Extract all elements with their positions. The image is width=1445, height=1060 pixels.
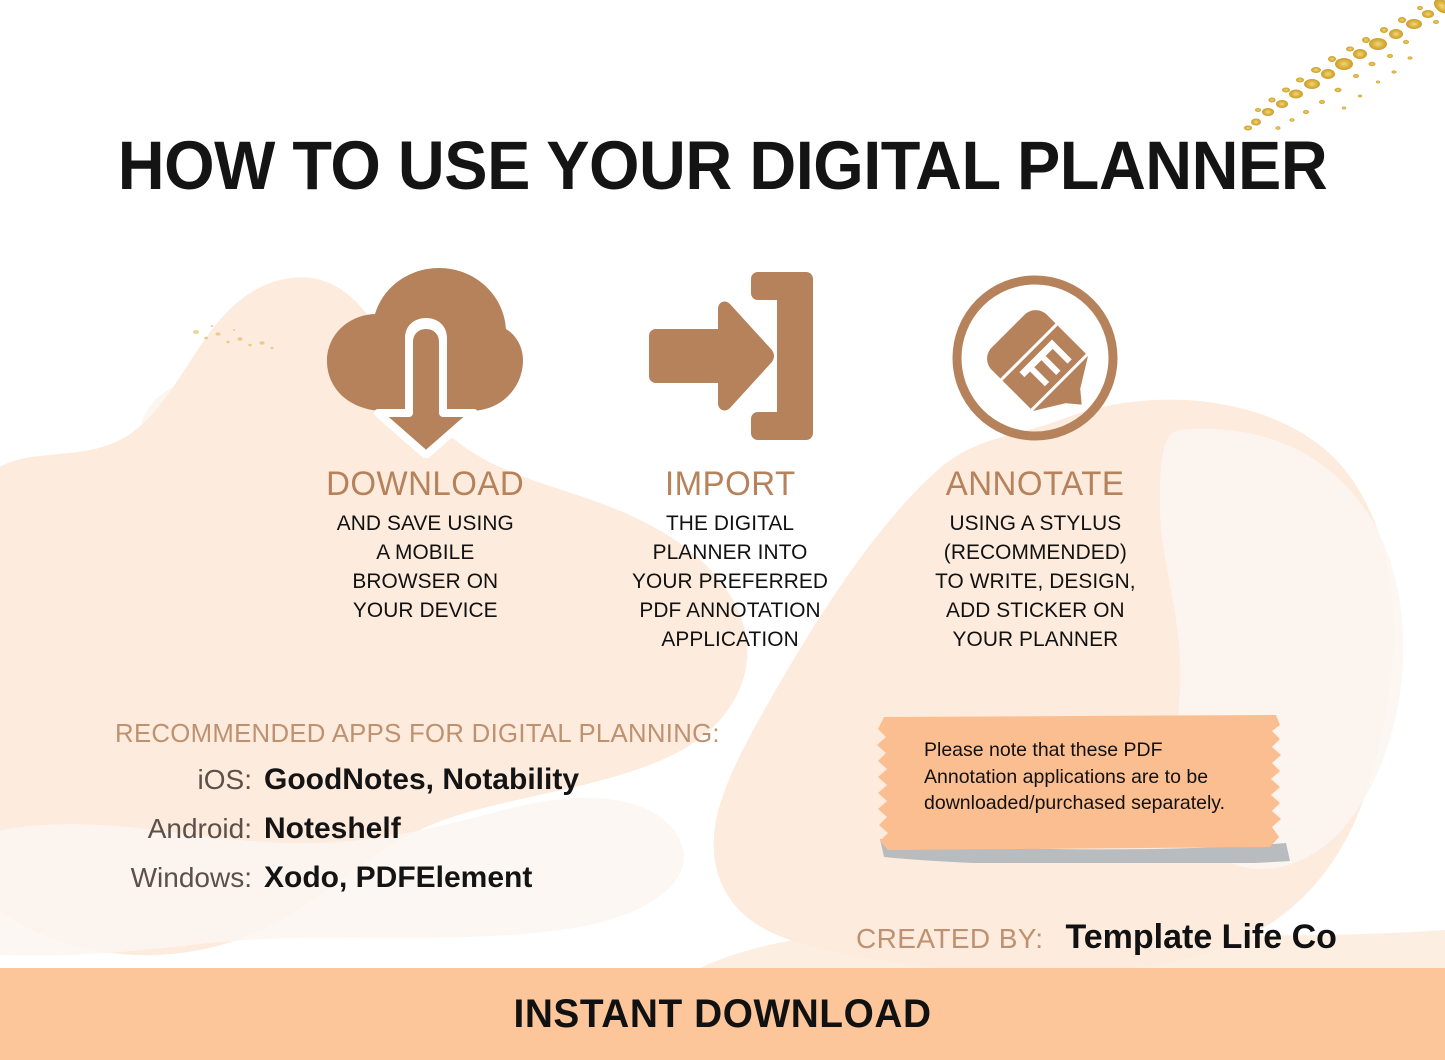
app-row: Android: Noteshelf [112, 812, 752, 861]
step-desc-line: AND SAVE USING [336, 509, 513, 538]
footer-bar: INSTANT DOWNLOAD [0, 968, 1445, 1060]
step-title-annotate: ANNOTATE [946, 465, 1125, 504]
step-download: DOWNLOAD AND SAVE USING A MOBILE BROWSER… [300, 258, 550, 625]
app-os-label: iOS: [112, 764, 264, 796]
recommended-apps-heading: RECOMMENDED APPS FOR DIGITAL PLANNING: [115, 718, 720, 749]
step-desc-download: AND SAVE USING A MOBILE BROWSER ON YOUR … [336, 509, 513, 625]
step-desc-line: (RECOMMENDED) [935, 538, 1136, 567]
step-desc-line: BROWSER ON [336, 567, 513, 596]
app-names: Xodo, PDFElement [264, 861, 532, 895]
gold-glitter-streak [1244, 0, 1445, 130]
note-text: Please note that these PDF Annotation ap… [924, 737, 1254, 817]
step-desc-line: APPLICATION [632, 625, 828, 654]
import-arrow-icon [643, 258, 818, 463]
app-names: GoodNotes, Notability [264, 763, 579, 797]
created-by: CREATED BY: Template Life Co [856, 918, 1337, 957]
step-title-import: IMPORT [665, 465, 796, 504]
step-desc-line: ADD STICKER ON [935, 596, 1136, 625]
step-desc-line: YOUR DEVICE [336, 596, 513, 625]
step-annotate: ANNOTATE USING A STYLUS (RECOMMENDED) TO… [910, 258, 1160, 654]
app-os-label: Windows: [112, 862, 264, 894]
step-desc-line: PLANNER INTO [632, 538, 828, 567]
step-desc-line: USING A STYLUS [935, 509, 1136, 538]
step-desc-line: A MOBILE [336, 538, 513, 567]
gold-glitter-speck [193, 325, 274, 349]
app-os-label: Android: [112, 813, 264, 845]
step-desc-line: PDF ANNOTATION [632, 596, 828, 625]
steps-row: DOWNLOAD AND SAVE USING A MOBILE BROWSER… [300, 258, 1160, 654]
app-names: Noteshelf [264, 812, 401, 846]
poster-canvas: HOW TO USE YOUR DIGITAL PLANNER DOWNLOAD… [0, 0, 1445, 1060]
step-desc-line: TO WRITE, DESIGN, [935, 567, 1136, 596]
page-title: HOW TO USE YOUR DIGITAL PLANNER [43, 126, 1401, 205]
recommended-apps-list: iOS: GoodNotes, Notability Android: Note… [112, 763, 752, 910]
step-title-download: DOWNLOAD [326, 465, 524, 504]
step-desc-line: YOUR PREFERRED [632, 567, 828, 596]
step-desc-line: YOUR PLANNER [935, 625, 1136, 654]
step-desc-line: THE DIGITAL [632, 509, 828, 538]
app-row: Windows: Xodo, PDFElement [112, 861, 752, 910]
note-card: Please note that these PDF Annotation ap… [866, 711, 1296, 863]
pencil-circle-icon [950, 258, 1120, 463]
cloud-download-icon [323, 258, 528, 463]
created-by-label: CREATED BY: [856, 923, 1043, 955]
footer-text: INSTANT DOWNLOAD [513, 992, 931, 1037]
step-desc-import: THE DIGITAL PLANNER INTO YOUR PREFERRED … [632, 509, 828, 654]
step-desc-annotate: USING A STYLUS (RECOMMENDED) TO WRITE, D… [935, 509, 1136, 654]
created-by-name: Template Life Co [1065, 918, 1336, 957]
step-import: IMPORT THE DIGITAL PLANNER INTO YOUR PRE… [620, 258, 840, 654]
app-row: iOS: GoodNotes, Notability [112, 763, 752, 812]
